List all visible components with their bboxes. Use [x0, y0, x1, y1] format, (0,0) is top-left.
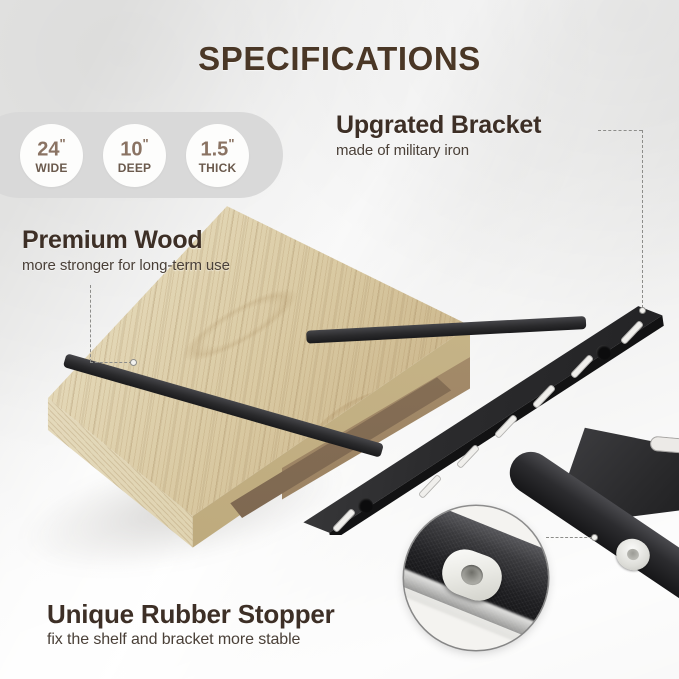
spec-badge-thickness-label: THICK — [199, 162, 237, 174]
spec-badge-thickness: 1.5" THICK — [186, 124, 249, 187]
spec-badge-depth-value: 10" — [120, 137, 148, 160]
rubber-stopper-magnifier — [404, 506, 548, 650]
bracket-secondary — [540, 415, 679, 679]
spec-badge-width-value: 24" — [37, 137, 65, 160]
leader-line-wood-vertical — [90, 285, 91, 362]
callout-wood-title: Premium Wood — [22, 227, 230, 254]
spec-badge-thickness-value: 1.5" — [201, 137, 235, 160]
spec-badge-depth: 10" DEEP — [103, 124, 166, 187]
wood-grain-knot-secondary — [165, 270, 315, 380]
page-title: SPECIFICATIONS — [0, 40, 679, 78]
leader-line-wood-horizontal — [90, 362, 132, 363]
callout-bracket-subtitle: made of military iron — [336, 142, 541, 159]
leader-endpoint-stopper — [591, 534, 598, 541]
spec-badge-width: 24" WIDE — [20, 124, 83, 187]
callout-stopper-subtitle: fix the shelf and bracket more stable — [47, 631, 335, 649]
bracket-hole — [596, 345, 611, 360]
leader-line-bracket-horizontal — [598, 130, 642, 131]
spec-badge-width-label: WIDE — [35, 162, 67, 174]
product-spec-infographic: SPECIFICATIONS 24" WIDE 10" DEEP 1.5" TH… — [0, 0, 679, 679]
leader-line-stopper-horizontal — [546, 537, 592, 538]
callout-wood-subtitle: more stronger for long-term use — [22, 257, 230, 274]
callout-stopper: Unique Rubber Stopper fix the shelf and … — [47, 600, 335, 649]
spec-badge-depth-label: DEEP — [118, 162, 151, 174]
callout-stopper-title: Unique Rubber Stopper — [47, 600, 335, 628]
leader-endpoint-wood — [130, 359, 137, 366]
callout-bracket: Upgrated Bracket made of military iron — [336, 112, 541, 159]
bracket-hole — [358, 498, 373, 513]
leader-endpoint-bracket — [639, 307, 646, 314]
callout-bracket-title: Upgrated Bracket — [336, 112, 541, 139]
callout-wood: Premium Wood more stronger for long-term… — [22, 227, 230, 274]
leader-line-bracket-vertical — [642, 130, 643, 308]
